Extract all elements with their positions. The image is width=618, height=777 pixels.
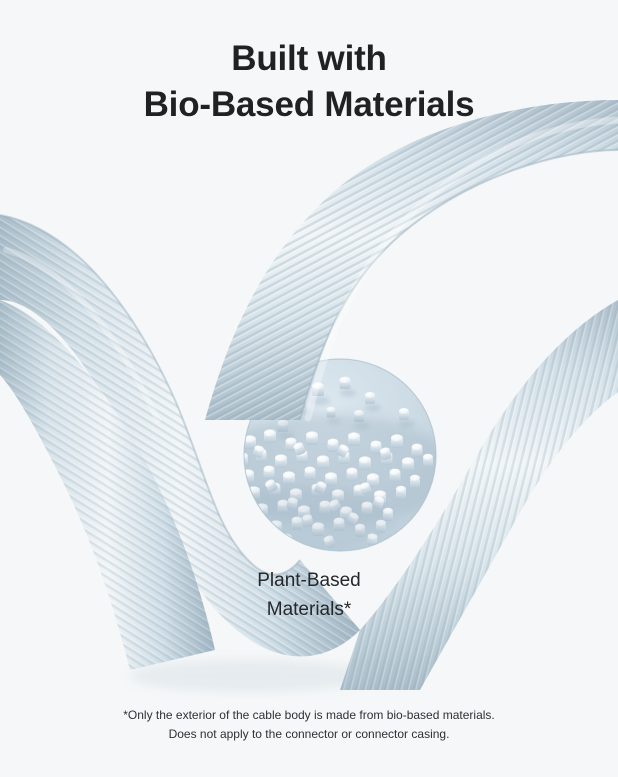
headline-line-1: Built with (0, 36, 618, 82)
footnote-line-1: *Only the exterior of the cable body is … (0, 706, 618, 725)
headline-line-2: Bio-Based Materials (0, 82, 618, 128)
inset-caption-line-2: Materials* (0, 595, 618, 624)
footnote-disclaimer: *Only the exterior of the cable body is … (0, 706, 618, 744)
bio-based-materials-poster: Built with Bio-Based Materials Plant-Bas… (0, 0, 618, 777)
inset-caption: Plant-Based Materials* (0, 566, 618, 624)
footnote-line-2: Does not apply to the connector or conne… (0, 725, 618, 744)
inset-caption-line-1: Plant-Based (0, 566, 618, 595)
page-title: Built with Bio-Based Materials (0, 36, 618, 128)
